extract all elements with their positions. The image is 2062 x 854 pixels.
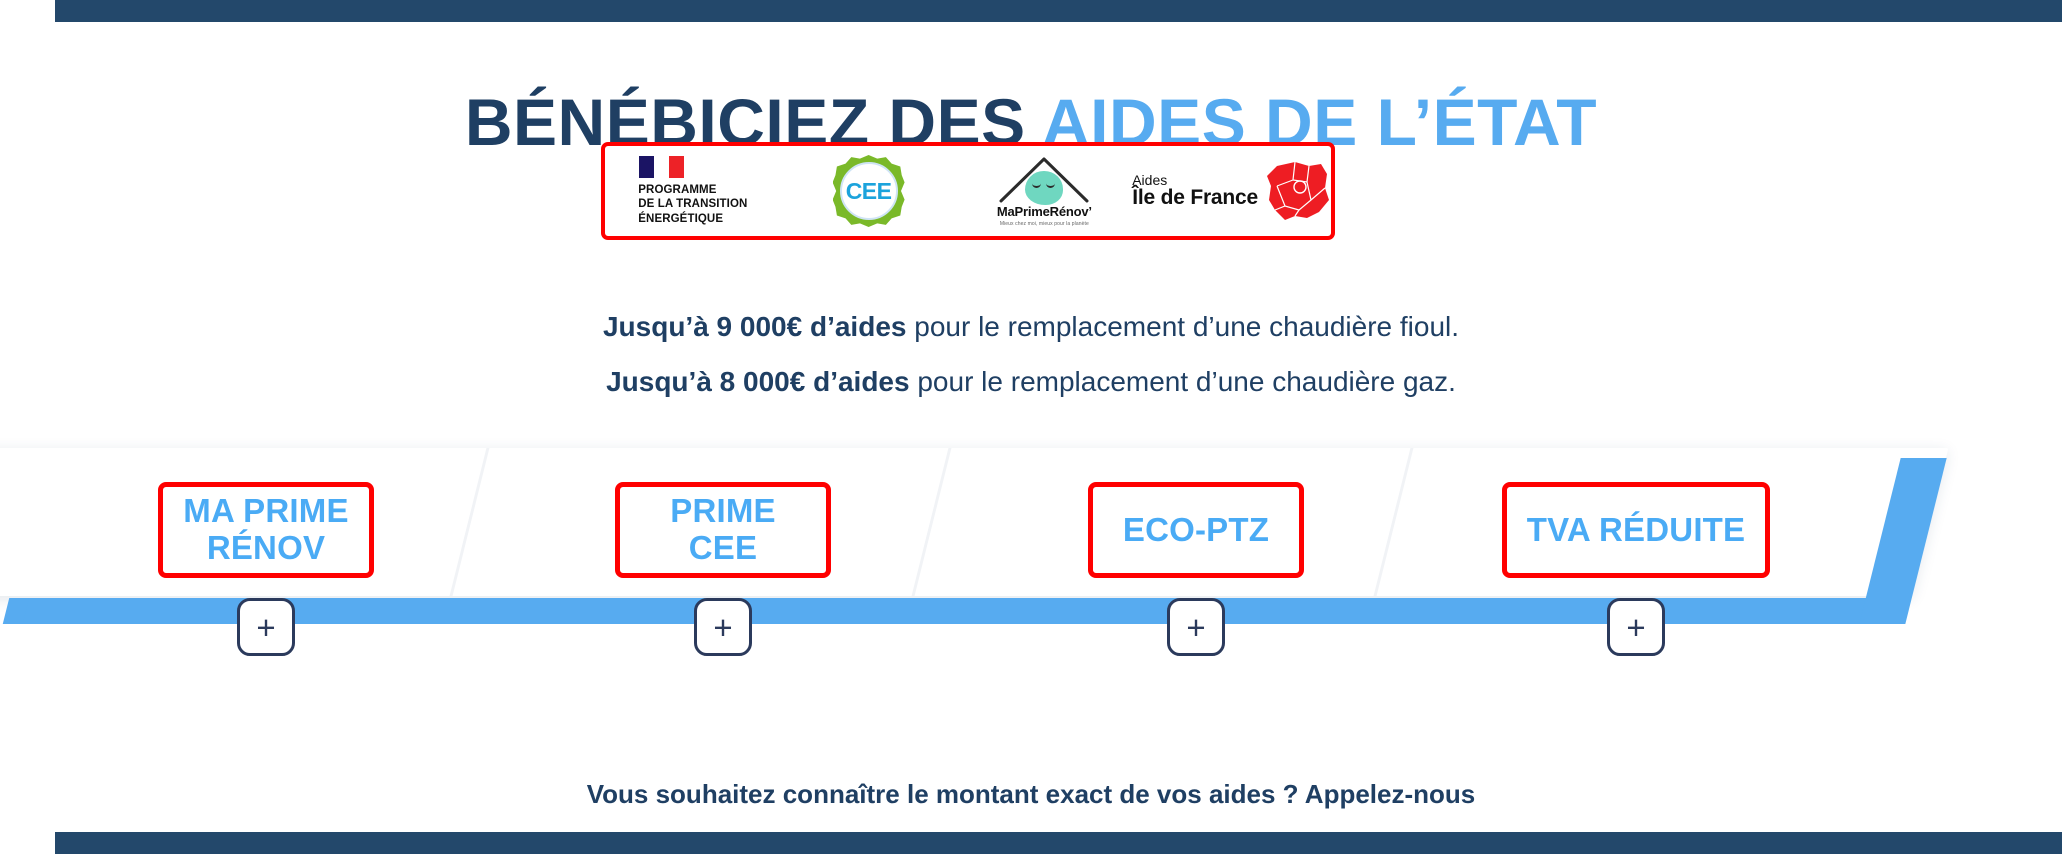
smiling-blob-icon: [1025, 171, 1063, 205]
aid-amount-gaz-bold: Jusqu’à 8 000€ d’aides: [606, 366, 910, 397]
maprimerenov-name: MaPrimeRénov’: [997, 204, 1092, 219]
programme-transition-energetique-logo: PROGRAMME DE LA TRANSITION ÉNERGÉTIQUE: [638, 156, 747, 225]
cee-label: CEE: [846, 178, 892, 205]
aid-label-line-1: TVA RÉDUITE: [1527, 512, 1746, 549]
aid-card-tva-reduite[interactable]: TVA RÉDUITE: [1502, 482, 1770, 578]
programme-line-3: ÉNERGÉTIQUE: [638, 212, 747, 226]
french-flag-icon: [639, 156, 684, 178]
aid-card-label-ma-prime-renov: MA PRIME RÉNOV: [183, 493, 348, 567]
idf-line-2: Île de France: [1132, 187, 1258, 209]
aid-card-label-prime-cee: PRIME CEE: [670, 493, 776, 567]
ile-de-france-map-icon: [1265, 160, 1331, 222]
maprimerenov-logo: MaPrimeRénov’ Mieux chez moi, mieux pour…: [997, 155, 1092, 227]
top-divider-bar: [55, 0, 2062, 22]
cee-badge-logo: CEE: [833, 155, 905, 227]
expand-button-tva-reduite[interactable]: +: [1607, 598, 1665, 656]
expand-button-ma-prime-renov[interactable]: +: [237, 598, 295, 656]
aid-card-prime-cee[interactable]: PRIME CEE: [615, 482, 831, 578]
aid-card-ma-prime-renov[interactable]: MA PRIME RÉNOV: [158, 482, 374, 578]
aid-card-eco-ptz[interactable]: ECO-PTZ: [1088, 482, 1304, 578]
aid-amount-line-fioul: Jusqu’à 9 000€ d’aides pour le remplacem…: [0, 311, 2062, 343]
expand-button-prime-cee[interactable]: +: [694, 598, 752, 656]
logo-cell-cee: CEE: [781, 146, 957, 236]
maprimerenov-tagline: Mieux chez moi, mieux pour la planète: [1000, 221, 1089, 227]
blob-eye-right-icon: [1046, 181, 1055, 188]
logo-cell-iledefrance: Aides Île de France: [1132, 146, 1331, 236]
partner-logo-strip: PROGRAMME DE LA TRANSITION ÉNERGÉTIQUE C…: [601, 142, 1335, 240]
aid-label-line-2: CEE: [670, 530, 776, 567]
logo-cell-programme: PROGRAMME DE LA TRANSITION ÉNERGÉTIQUE: [605, 146, 781, 236]
cee-inner-circle: CEE: [840, 162, 898, 220]
aid-amount-fioul-rest: pour le remplacement d’une chaudière fio…: [906, 311, 1459, 342]
aid-amount-line-gaz: Jusqu’à 8 000€ d’aides pour le remplacem…: [0, 366, 2062, 398]
expand-button-eco-ptz[interactable]: +: [1167, 598, 1225, 656]
aid-label-line-1: PRIME: [670, 493, 776, 530]
aids-ribbon: MA PRIME RÉNOV + PRIME CEE + ECO-PTZ + T…: [0, 448, 2062, 668]
aid-amount-gaz-rest: pour le remplacement d’une chaudière gaz…: [910, 366, 1456, 397]
aid-label-line-1: MA PRIME: [183, 493, 348, 530]
aid-label-line-2: RÉNOV: [183, 530, 348, 567]
aid-label-line-1: ECO-PTZ: [1123, 512, 1269, 549]
aid-card-label-tva-reduite: TVA RÉDUITE: [1527, 512, 1746, 549]
maprimerenov-house-icon: [998, 155, 1090, 203]
bottom-divider-bar: [55, 832, 2062, 854]
idf-text-block: Aides Île de France: [1132, 173, 1258, 210]
closing-question: Vous souhaitez connaître le montant exac…: [0, 779, 2062, 810]
aid-amount-fioul-bold: Jusqu’à 9 000€ d’aides: [603, 311, 907, 342]
programme-line-2: DE LA TRANSITION: [638, 197, 747, 211]
logo-cell-maprimerenov: MaPrimeRénov’ Mieux chez moi, mieux pour…: [956, 146, 1132, 236]
aides-ile-de-france-logo: Aides Île de France: [1132, 160, 1331, 222]
aid-card-label-eco-ptz: ECO-PTZ: [1123, 512, 1269, 549]
programme-logo-text: PROGRAMME DE LA TRANSITION ÉNERGÉTIQUE: [638, 183, 747, 225]
blob-eye-left-icon: [1032, 181, 1041, 188]
programme-line-1: PROGRAMME: [638, 183, 747, 197]
